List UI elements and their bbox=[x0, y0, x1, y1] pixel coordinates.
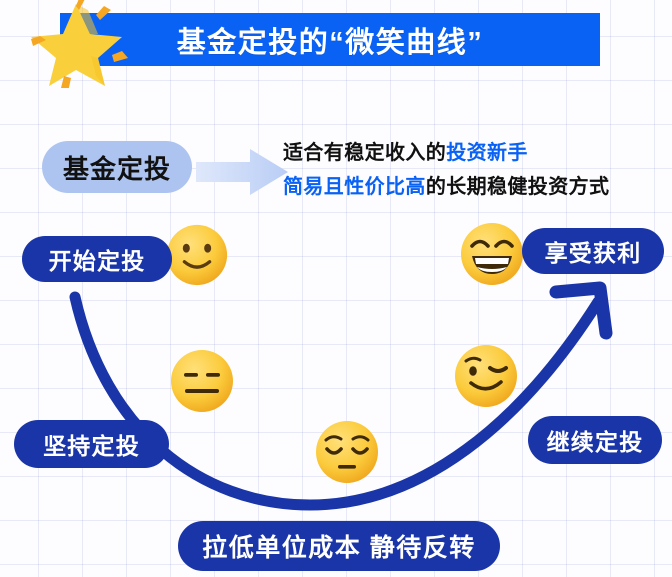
neutral-smile-face-icon bbox=[164, 222, 230, 288]
subtitle-l2-plain: 的长期稳健投资方式 bbox=[426, 176, 610, 198]
stage-label-hold-text: 坚持定投 bbox=[43, 427, 140, 461]
stage-label-bottom-text: 拉低单位成本 静待反转 bbox=[202, 528, 475, 564]
winking-face-icon bbox=[452, 342, 520, 410]
subtitle-block: 适合有稳定收入的投资新手 简易且性价比高的长期稳健投资方式 bbox=[283, 136, 672, 204]
stage-label-start[interactable]: 开始定投 bbox=[22, 236, 172, 282]
subtitle-line-2: 简易且性价比高的长期稳健投资方式 bbox=[283, 170, 672, 204]
pensive-face-icon bbox=[313, 418, 381, 486]
fund-tag-pill: 基金定投 bbox=[42, 141, 192, 193]
expressionless-face-icon bbox=[168, 347, 236, 415]
stage-label-bottom[interactable]: 拉低单位成本 静待反转 bbox=[178, 521, 500, 571]
star-sparkle-icon bbox=[18, 0, 136, 88]
stage-label-continue-text: 继续定投 bbox=[547, 423, 644, 457]
infographic-canvas: 基金定投的“微笑曲线” 基金定投 适合有稳定收入的投资新手 简易且性价比高的长期… bbox=[0, 0, 672, 577]
stage-label-continue[interactable]: 继续定投 bbox=[528, 416, 662, 464]
title-banner: 基金定投的“微笑曲线” bbox=[60, 13, 600, 66]
subtitle-l1-highlight: 投资新手 bbox=[446, 142, 528, 164]
stage-label-hold[interactable]: 坚持定投 bbox=[14, 420, 169, 468]
fund-tag-label: 基金定投 bbox=[63, 149, 171, 186]
stage-label-enjoy[interactable]: 享受获利 bbox=[522, 228, 664, 274]
stage-label-enjoy-text: 享受获利 bbox=[545, 234, 642, 268]
right-arrow-icon bbox=[196, 146, 288, 198]
subtitle-l2-highlight: 简易且性价比高 bbox=[283, 176, 426, 198]
subtitle-line-1: 适合有稳定收入的投资新手 bbox=[283, 136, 672, 170]
page-title: 基金定投的“微笑曲线” bbox=[177, 19, 484, 61]
stage-label-start-text: 开始定投 bbox=[49, 242, 146, 276]
subtitle-l1-plain: 适合有稳定收入的 bbox=[283, 142, 446, 164]
grinning-face-icon bbox=[458, 220, 526, 288]
